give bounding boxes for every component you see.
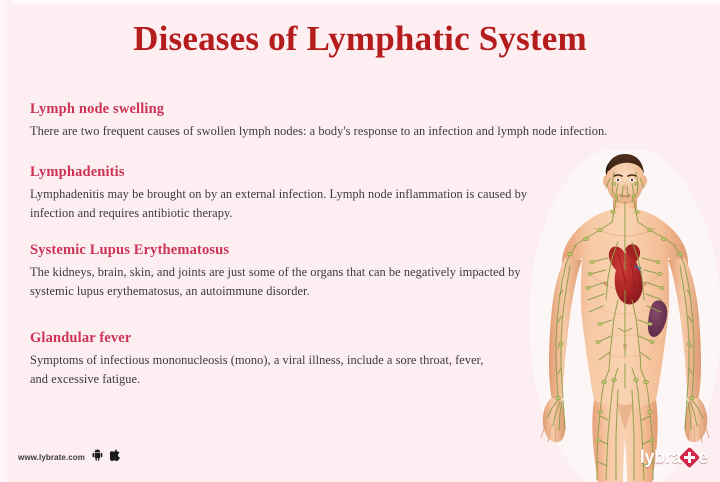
left-edge-wash — [0, 0, 10, 482]
apple-icon[interactable] — [110, 448, 120, 466]
section-body: The kidneys, brain, skin, and joints are… — [30, 263, 530, 301]
section-body: Symptoms of infectious mononucleosis (mo… — [30, 351, 490, 389]
section-systemic-lupus-erythematosus: Systemic Lupus Erythematosus The kidneys… — [30, 241, 690, 301]
infographic-canvas: Diseases of Lymphatic System Lymph node … — [0, 0, 720, 482]
section-heading: Glandular fever — [30, 329, 690, 348]
android-icon[interactable] — [92, 448, 103, 466]
footer: www.lybrate.com — [18, 448, 120, 466]
medical-cross-diamond-icon — [681, 449, 698, 466]
section-heading: Lymphadenitis — [30, 163, 690, 182]
page-title: Diseases of Lymphatic System — [0, 18, 720, 60]
top-edge-wash — [0, 0, 720, 6]
lybrate-logo[interactable]: lybra e — [640, 447, 708, 468]
section-lymph-node-swelling: Lymph node swelling There are two freque… — [30, 100, 690, 141]
disease-sections: Lymph node swelling There are two freque… — [30, 100, 690, 402]
section-heading: Lymph node swelling — [30, 100, 690, 119]
logo-text-after: e — [698, 447, 708, 468]
section-lymphadenitis: Lymphadenitis Lymphadenitis may be broug… — [30, 163, 690, 223]
section-glandular-fever: Glandular fever Symptoms of infectious m… — [30, 329, 690, 389]
section-body: Lymphadenitis may be brought on by an ex… — [30, 185, 560, 223]
logo-text-before: lybra — [640, 447, 682, 468]
footer-url[interactable]: www.lybrate.com — [18, 453, 85, 462]
section-heading: Systemic Lupus Erythematosus — [30, 241, 690, 260]
section-body: There are two frequent causes of swollen… — [30, 122, 686, 141]
